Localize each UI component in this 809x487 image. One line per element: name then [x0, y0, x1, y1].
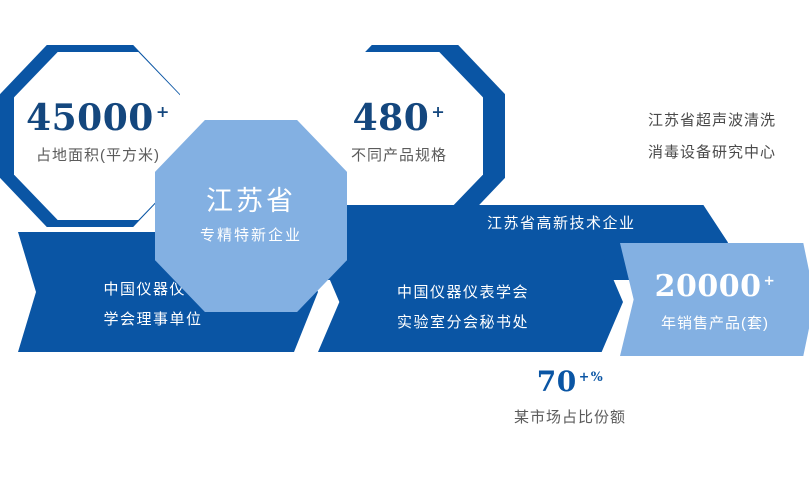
note-ultrasonic-research-center: 江苏省超声波清洗 消毒设备研究中心 [648, 105, 776, 169]
stat-land-area-caption: 占地面积(平方米) [14, 148, 182, 163]
badge-jiangsu-specialized [155, 120, 347, 312]
stat-product-specs-value-wrap: 480+ [315, 100, 483, 136]
stat-market-share-value-wrap: 70+% [470, 368, 670, 396]
stat-market-share-caption: 某市场占比份额 [470, 410, 670, 425]
stat-annual-sales-suffix: + [764, 273, 776, 289]
badge-jiangsu-specialized-line1: 江苏省 [155, 188, 347, 215]
stat-annual-sales-caption: 年销售产品(套) [620, 316, 809, 331]
stat-product-specs-caption: 不同产品规格 [315, 148, 483, 163]
stat-land-area-value: 45000 [26, 97, 154, 139]
stat-land-area-value-wrap: 45000+ [14, 100, 182, 136]
stat-product-specs-suffix: + [431, 102, 445, 121]
badge-lab-branch-secretariat-line2: 实验室分会秘书处 [318, 308, 608, 338]
badge-lab-branch-secretariat-text: 中国仪器仪表学会 实验室分会秘书处 [318, 278, 608, 338]
infographic-canvas: 45000+ 占地面积(平方米) 480+ 不同产品规格 中国仪器仪表 学会理事… [0, 0, 809, 487]
stat-annual-sales-value: 20000 [655, 269, 762, 304]
badge-jiangsu-specialized-line2: 专精特新企业 [155, 228, 347, 243]
stat-market-share-percent: % [591, 369, 603, 384]
stat-product-specs-value: 480 [353, 97, 430, 139]
stat-market-share-value: 70 [537, 365, 577, 398]
stat-annual-sales-value-wrap: 20000+ [620, 272, 809, 302]
badge-high-tech-enterprise-label: 江苏省高新技术企业 [487, 212, 636, 233]
stat-land-area-suffix: + [156, 102, 170, 121]
note-ultrasonic-research-center-line2: 消毒设备研究中心 [648, 137, 776, 169]
stat-market-share-suffix: + [579, 369, 590, 384]
note-ultrasonic-research-center-line1: 江苏省超声波清洗 [648, 105, 776, 137]
badge-lab-branch-secretariat-line1: 中国仪器仪表学会 [318, 278, 608, 308]
